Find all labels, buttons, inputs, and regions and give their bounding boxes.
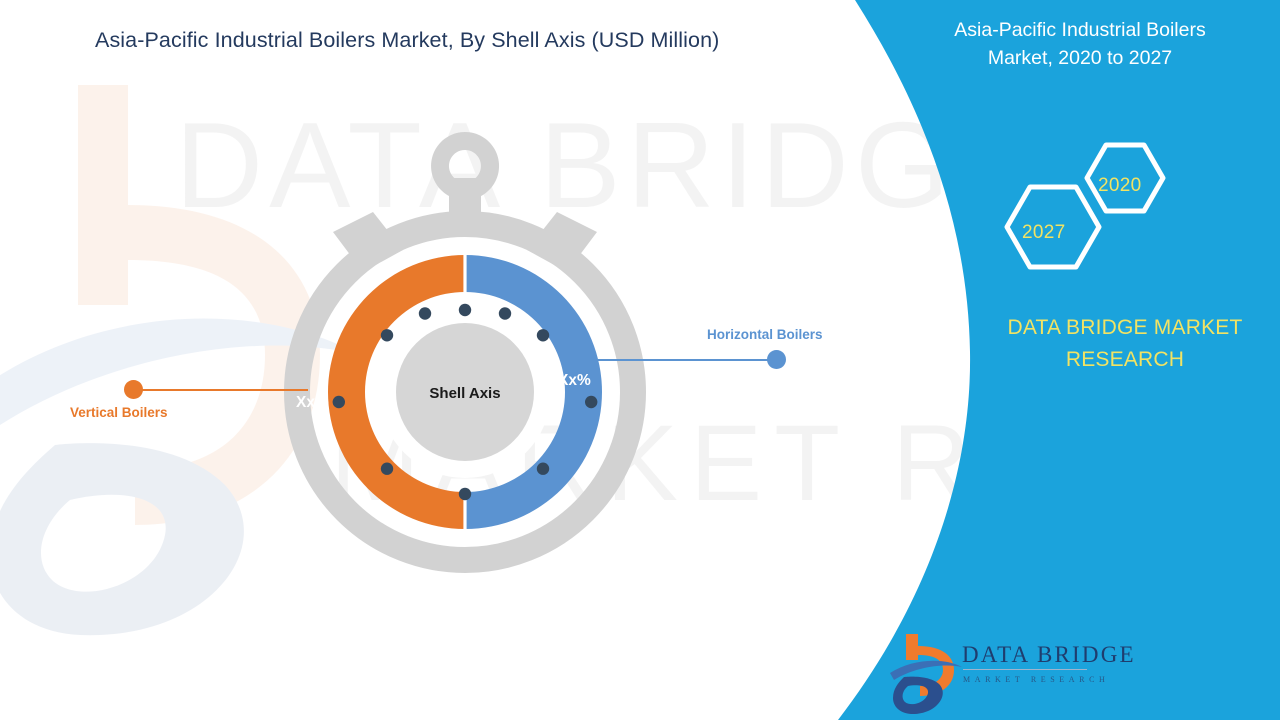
callout-dot-vertical: [124, 380, 143, 399]
hexagon-label-2020: 2020: [1098, 175, 1141, 197]
panel-brand-name: DATA BRIDGE MARKET RESEARCH: [960, 312, 1280, 375]
segment-label-horizontal-pct: Xx%: [558, 372, 591, 390]
panel-brand-line2: RESEARCH: [960, 344, 1280, 376]
callout-line-vertical: [138, 389, 308, 391]
panel-heading: Asia-Pacific Industrial Boilers Market, …: [905, 16, 1255, 73]
year-hexagons: [980, 140, 1190, 285]
hexagon-label-2027: 2027: [1022, 222, 1065, 244]
panel-heading-line2: Market, 2020 to 2027: [905, 44, 1255, 72]
page-title: Asia-Pacific Industrial Boilers Market, …: [95, 28, 719, 53]
segment-label-vertical-pct: Xx%: [296, 394, 329, 412]
legend-item-horizontal-boilers[interactable]: Horizontal Boilers: [707, 327, 823, 342]
legend-item-vertical-boilers[interactable]: Vertical Boilers: [70, 405, 168, 420]
logo-tagline: MARKET RESEARCH: [963, 675, 1109, 684]
logo-wordmark: DATA BRIDGE: [962, 642, 1136, 668]
panel-heading-line1: Asia-Pacific Industrial Boilers: [905, 16, 1255, 44]
logo-divider: [963, 669, 1087, 670]
callout-dot-horizontal: [767, 350, 786, 369]
donut-chart: Shell Axis: [255, 120, 675, 590]
callout-line-horizontal: [588, 359, 778, 361]
infographic-canvas: DATA BRIDGE MARKET RESEARCH Asia-Pacific…: [0, 0, 1280, 720]
panel-brand-line1: DATA BRIDGE MARKET: [960, 312, 1280, 344]
